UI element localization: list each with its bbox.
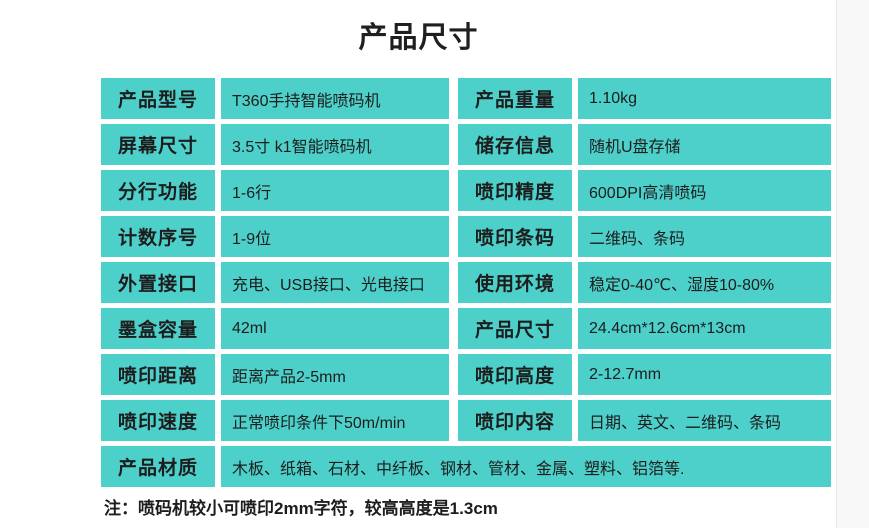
spec-pair-left: 喷印速度 正常喷印条件下50m/min bbox=[101, 400, 449, 441]
spec-value: 2-12.7mm bbox=[578, 354, 831, 395]
spec-label: 喷印内容 bbox=[458, 400, 572, 441]
table-row-materials: 产品材质 木板、纸箱、石材、中纤板、钢材、管材、金属、塑料、铝箔等. bbox=[101, 446, 831, 487]
spec-label: 分行功能 bbox=[101, 170, 215, 211]
spec-value: T360手持智能喷码机 bbox=[221, 78, 449, 119]
spec-value: 日期、英文、二维码、条码 bbox=[578, 400, 831, 441]
spec-label: 产品材质 bbox=[101, 446, 215, 487]
page-gutter bbox=[838, 0, 869, 528]
spec-value: 距离产品2-5mm bbox=[221, 354, 449, 395]
table-row: 屏幕尺寸 3.5寸 k1智能喷码机 储存信息 随机U盘存储 bbox=[101, 124, 831, 165]
spec-pair-right: 使用环境 稳定0-40℃、湿度10-80% bbox=[458, 262, 831, 303]
table-row: 计数序号 1-9位 喷印条码 二维码、条码 bbox=[101, 216, 831, 257]
spec-pair-left: 分行功能 1-6行 bbox=[101, 170, 449, 211]
spec-pair-right: 储存信息 随机U盘存储 bbox=[458, 124, 831, 165]
spec-pair-right: 产品尺寸 24.4cm*12.6cm*13cm bbox=[458, 308, 831, 349]
spec-pair-left: 计数序号 1-9位 bbox=[101, 216, 449, 257]
spec-value: 正常喷印条件下50m/min bbox=[221, 400, 449, 441]
spec-pair-right: 喷印内容 日期、英文、二维码、条码 bbox=[458, 400, 831, 441]
spec-table: 产品型号 T360手持智能喷码机 产品重量 1.10kg 屏幕尺寸 3.5寸 k… bbox=[101, 78, 831, 487]
spec-value: 42ml bbox=[221, 308, 449, 349]
spec-pair-right: 喷印高度 2-12.7mm bbox=[458, 354, 831, 395]
product-spec-page: 产品尺寸 产品型号 T360手持智能喷码机 产品重量 1.10kg 屏幕尺寸 3… bbox=[0, 0, 837, 528]
spec-label: 使用环境 bbox=[458, 262, 572, 303]
spec-pair-right: 喷印精度 600DPI高清喷码 bbox=[458, 170, 831, 211]
spec-label: 喷印距离 bbox=[101, 354, 215, 395]
table-row: 喷印距离 距离产品2-5mm 喷印高度 2-12.7mm bbox=[101, 354, 831, 395]
table-row: 喷印速度 正常喷印条件下50m/min 喷印内容 日期、英文、二维码、条码 bbox=[101, 400, 831, 441]
spec-label: 储存信息 bbox=[458, 124, 572, 165]
spec-label: 喷印精度 bbox=[458, 170, 572, 211]
spec-label: 墨盒容量 bbox=[101, 308, 215, 349]
spec-label: 计数序号 bbox=[101, 216, 215, 257]
spec-label: 屏幕尺寸 bbox=[101, 124, 215, 165]
spec-label: 外置接口 bbox=[101, 262, 215, 303]
spec-value: 稳定0-40℃、湿度10-80% bbox=[578, 262, 831, 303]
spec-label: 产品型号 bbox=[101, 78, 215, 119]
spec-pair-left: 屏幕尺寸 3.5寸 k1智能喷码机 bbox=[101, 124, 449, 165]
spec-label: 喷印高度 bbox=[458, 354, 572, 395]
spec-pair-left: 喷印距离 距离产品2-5mm bbox=[101, 354, 449, 395]
spec-label: 产品重量 bbox=[458, 78, 572, 119]
spec-pair-left: 外置接口 充电、USB接口、光电接口 bbox=[101, 262, 449, 303]
spec-label: 喷印条码 bbox=[458, 216, 572, 257]
page-title: 产品尺寸 bbox=[0, 14, 837, 56]
spec-pair-right: 喷印条码 二维码、条码 bbox=[458, 216, 831, 257]
table-row: 产品型号 T360手持智能喷码机 产品重量 1.10kg bbox=[101, 78, 831, 119]
spec-value: 600DPI高清喷码 bbox=[578, 170, 831, 211]
spec-value: 24.4cm*12.6cm*13cm bbox=[578, 308, 831, 349]
table-row: 分行功能 1-6行 喷印精度 600DPI高清喷码 bbox=[101, 170, 831, 211]
spec-value: 1-6行 bbox=[221, 170, 449, 211]
spec-value: 1.10kg bbox=[578, 78, 831, 119]
spec-value: 木板、纸箱、石材、中纤板、钢材、管材、金属、塑料、铝箔等. bbox=[221, 446, 831, 487]
spec-label: 喷印速度 bbox=[101, 400, 215, 441]
footer-note: 注：喷码机较小可喷印2mm字符，较高高度是1.3cm bbox=[104, 494, 498, 519]
spec-value: 1-9位 bbox=[221, 216, 449, 257]
spec-value: 二维码、条码 bbox=[578, 216, 831, 257]
spec-label: 产品尺寸 bbox=[458, 308, 572, 349]
spec-pair-right: 产品重量 1.10kg bbox=[458, 78, 831, 119]
spec-value: 3.5寸 k1智能喷码机 bbox=[221, 124, 449, 165]
spec-pair-left: 产品型号 T360手持智能喷码机 bbox=[101, 78, 449, 119]
spec-value: 随机U盘存储 bbox=[578, 124, 831, 165]
spec-value: 充电、USB接口、光电接口 bbox=[221, 262, 449, 303]
table-row: 墨盒容量 42ml 产品尺寸 24.4cm*12.6cm*13cm bbox=[101, 308, 831, 349]
spec-pair-left: 墨盒容量 42ml bbox=[101, 308, 449, 349]
table-row: 外置接口 充电、USB接口、光电接口 使用环境 稳定0-40℃、湿度10-80% bbox=[101, 262, 831, 303]
